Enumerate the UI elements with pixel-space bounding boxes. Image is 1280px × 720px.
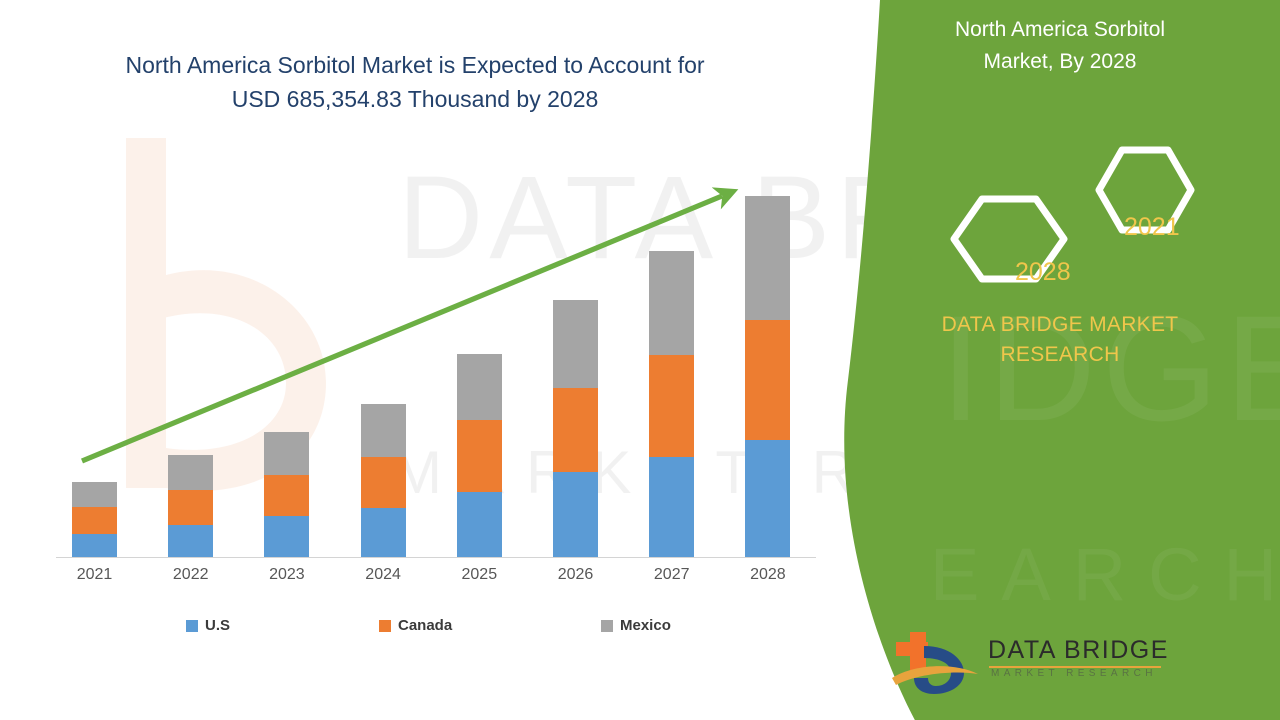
legend-label: Canada (398, 617, 452, 634)
logo-tagline: MARKET RESEARCH (991, 668, 1157, 679)
chart-legend: U.SCanadaMexico (56, 617, 816, 643)
brand-name-line-1: DATA BRIDGE MARKET (942, 313, 1179, 336)
bar-segment-canada (553, 388, 598, 472)
hexagon-label-bottom: 2028 (1015, 258, 1071, 287)
x-axis-label-2021: 2021 (50, 566, 140, 584)
bar-segment-mexico (553, 300, 598, 388)
bar-segment-mexico (745, 196, 790, 320)
bar-column (168, 455, 213, 557)
bar-segment-mexico (457, 354, 502, 420)
plot-area: 20212022202320242025202620272028 (0, 0, 880, 600)
legend-item-us[interactable]: U.S (186, 617, 230, 634)
square-swatch-blue (186, 620, 198, 632)
x-axis-label-2027: 2027 (627, 566, 717, 584)
bar-segment-us (168, 525, 213, 557)
bar-segment-us (72, 534, 117, 557)
bar-segment-mexico (649, 251, 694, 355)
brand-name: DATA BRIDGE MARKET RESEARCH (860, 310, 1260, 370)
logo-wordmark: DATA BRIDGE (988, 636, 1169, 665)
x-axis-label-2028: 2028 (723, 566, 813, 584)
bar-segment-canada (72, 507, 117, 534)
bar-segment-us (264, 516, 309, 557)
bar-segment-canada (457, 420, 502, 492)
bar-column (264, 432, 309, 557)
legend-label: Mexico (620, 617, 671, 634)
bar-segment-mexico (72, 482, 117, 507)
bar-segment-mexico (264, 432, 309, 475)
x-axis-label-2024: 2024 (338, 566, 428, 584)
bar-column (553, 300, 598, 557)
bar-column (457, 354, 502, 557)
svg-text:EARCH: EARCH (930, 533, 1280, 616)
bar-segment-canada (264, 475, 309, 516)
bar-segment-mexico (361, 404, 406, 457)
bar-segment-canada (745, 320, 790, 440)
panel-title: North America Sorbitol Market, By 2028 (860, 14, 1260, 78)
bar-column (72, 482, 117, 557)
bar-column (649, 251, 694, 557)
x-axis-line (56, 557, 816, 558)
bar-segment-canada (361, 457, 406, 508)
legend-item-canada[interactable]: Canada (379, 617, 452, 634)
bar-segment-canada (168, 490, 213, 525)
panel-title-line-2: Market, By 2028 (984, 50, 1137, 73)
square-swatch-gray (601, 620, 613, 632)
branding-panel: IDGE EARCH North America Sorbitol Market… (820, 0, 1280, 720)
bar-segment-us (745, 440, 790, 557)
data-bridge-logo: DATA BRIDGE MARKET RESEARCH (888, 630, 1188, 700)
hexagon-label-top: 2021 (1124, 213, 1180, 242)
x-axis-label-2022: 2022 (146, 566, 236, 584)
square-swatch-orange (379, 620, 391, 632)
x-axis-label-2023: 2023 (242, 566, 332, 584)
x-axis-label-2025: 2025 (434, 566, 524, 584)
brand-name-line-2: RESEARCH (1000, 343, 1119, 366)
bar-segment-mexico (168, 455, 213, 490)
chart-panel: DATA BRIDGE MARKET RESEARCH North Americ… (0, 0, 880, 720)
legend-label: U.S (205, 617, 230, 634)
panel-title-line-1: North America Sorbitol (955, 18, 1165, 41)
bar-segment-canada (649, 355, 694, 457)
hexagon-badges: 2021 2028 (850, 140, 1270, 310)
logo-mark-icon (888, 630, 980, 696)
bar-column (361, 404, 406, 557)
bar-segment-us (649, 457, 694, 557)
x-axis-label-2026: 2026 (531, 566, 621, 584)
bar-segment-us (457, 492, 502, 557)
infographic-canvas: DATA BRIDGE MARKET RESEARCH North Americ… (0, 0, 1280, 720)
legend-item-mexico[interactable]: Mexico (601, 617, 671, 634)
bar-column (745, 196, 790, 557)
bar-segment-us (553, 472, 598, 557)
bar-segment-us (361, 508, 406, 557)
